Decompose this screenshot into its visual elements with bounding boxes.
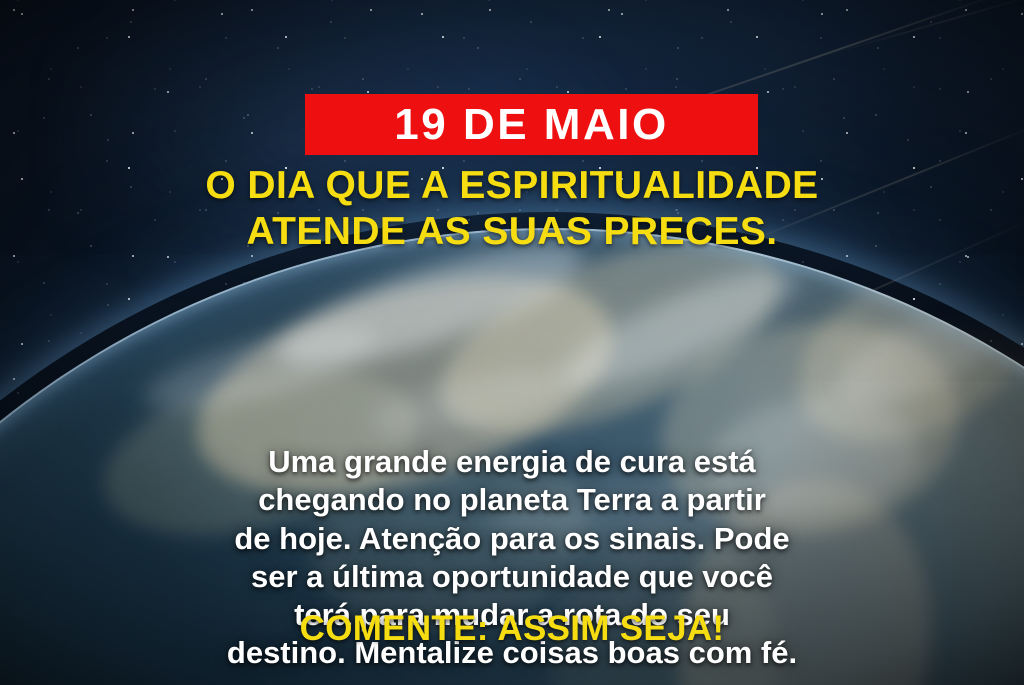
call-to-action-label: COMENTE: ASSIM SEJA!: [0, 611, 1024, 646]
poster-canvas: 19 DE MAIO O DIA QUE A ESPIRITUALIDADE A…: [0, 0, 1024, 685]
body-line-1: Uma grande energia de cura está: [0, 443, 1024, 481]
body-line-2: chegando no planeta Terra a partir: [0, 481, 1024, 519]
headline-line-1: O DIA QUE A ESPIRITUALIDADE: [0, 163, 1024, 209]
body-line-4: ser a última oportunidade que você: [0, 558, 1024, 596]
poster-content: 19 DE MAIO O DIA QUE A ESPIRITUALIDADE A…: [0, 0, 1024, 685]
body-line-3: de hoje. Atenção para os sinais. Pode: [0, 520, 1024, 558]
headline-line-2: ATENDE AS SUAS PRECES.: [0, 209, 1024, 255]
headline: O DIA QUE A ESPIRITUALIDADE ATENDE AS SU…: [0, 163, 1024, 254]
date-banner: 19 DE MAIO: [305, 94, 758, 155]
date-banner-label: 19 DE MAIO: [394, 103, 668, 147]
